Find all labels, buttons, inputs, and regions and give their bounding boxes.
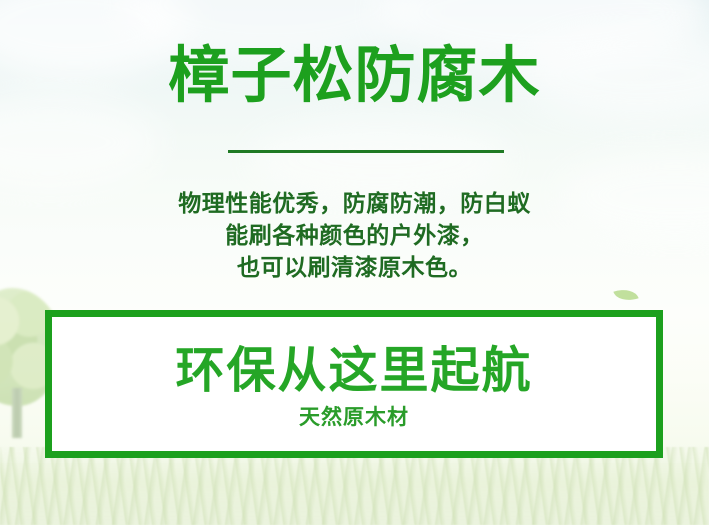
slogan-text: 环保从这里起航 <box>52 331 656 402</box>
grass-graphic <box>0 447 709 525</box>
title-divider <box>228 150 504 153</box>
description-line-1: 物理性能优秀，防腐防潮，防白蚁 <box>0 188 709 220</box>
slogan-frame: 环保从这里起航 天然原木材 <box>45 310 663 458</box>
sub-slogan-text: 天然原木材 <box>52 401 656 431</box>
product-banner: 樟子松防腐木 物理性能优秀，防腐防潮，防白蚁 能刷各种颜色的户外漆， 也可以刷清… <box>0 0 709 525</box>
slogan-frame-inner: 环保从这里起航 天然原木材 <box>52 317 656 451</box>
tree-trunk <box>12 388 22 438</box>
description-line-2: 能刷各种颜色的户外漆， <box>0 220 709 252</box>
description-line-3: 也可以刷清漆原木色。 <box>0 252 709 284</box>
leaf-icon <box>613 285 638 305</box>
page-title: 樟子松防腐木 <box>0 44 709 108</box>
cloud-graphic <box>0 95 160 190</box>
description-block: 物理性能优秀，防腐防潮，防白蚁 能刷各种颜色的户外漆， 也可以刷清漆原木色。 <box>0 188 709 284</box>
